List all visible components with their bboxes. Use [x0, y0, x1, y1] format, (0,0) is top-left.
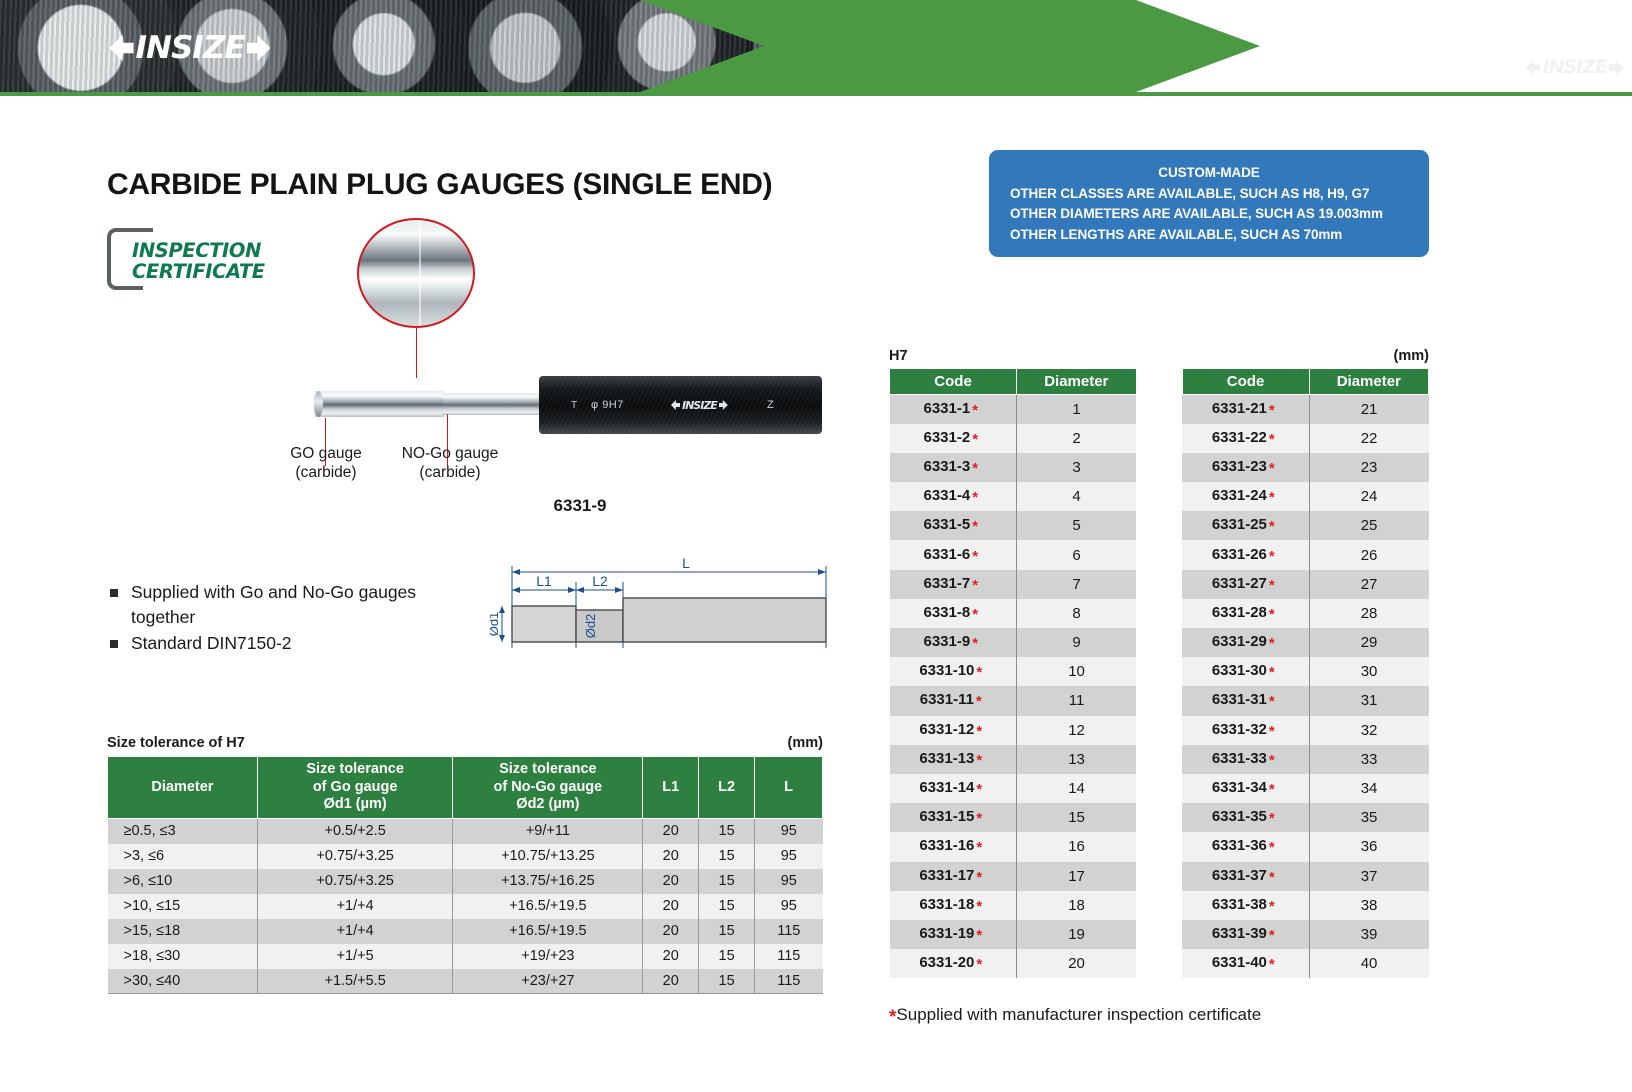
- diameter-cell: 3: [1017, 453, 1136, 482]
- nogo-gauge-callout: NO-Go gauge (carbide): [385, 444, 515, 483]
- code-value: 6331-25: [1212, 516, 1267, 533]
- table-row: >3, ≤6+0.75/+3.25+10.75/+13.25201595: [108, 844, 823, 869]
- th-nogo-line2: of No-Go gauge: [455, 779, 640, 797]
- engraving-class: Z: [767, 399, 774, 411]
- tolerance-cell-c5: 95: [755, 869, 823, 894]
- tolerance-cell-c0: >10, ≤15: [108, 894, 258, 919]
- engraving-diameter: φ 9H7: [591, 399, 624, 411]
- code-value: 6331-20: [919, 954, 974, 971]
- code-cell: 6331-31*: [1182, 686, 1309, 715]
- diameter-cell: 19: [1017, 920, 1136, 949]
- code-star-icon: *: [1269, 723, 1275, 740]
- th-code-left: Code: [890, 369, 1017, 395]
- table-row: 6331-34*34: [1182, 774, 1429, 803]
- code-star-icon: *: [976, 898, 982, 915]
- tolerance-cell-c4: 15: [699, 944, 755, 969]
- code-cell: 6331-15*: [890, 803, 1017, 832]
- code-value: 6331-40: [1212, 954, 1267, 971]
- code-star-icon: *: [1269, 489, 1275, 506]
- tolerance-cell-c1: +0.75/+3.25: [257, 844, 453, 869]
- tolerance-cell-c0: >18, ≤30: [108, 944, 258, 969]
- insize-logo: INSIZE: [90, 26, 290, 70]
- diameter-cell: 39: [1309, 920, 1428, 949]
- tolerance-cell-c4: 15: [699, 969, 755, 994]
- table-row: 6331-26*26: [1182, 540, 1429, 569]
- go-gauge-callout-line2: (carbide): [262, 463, 390, 482]
- diameter-cell: 2: [1017, 424, 1136, 453]
- tolerance-cell-c3: 20: [643, 969, 699, 994]
- engraving-logo: INSIZE: [671, 400, 728, 411]
- tolerance-cell-c2: +23/+27: [453, 969, 643, 994]
- diameter-cell: 40: [1309, 949, 1428, 978]
- code-star-icon: *: [976, 693, 982, 710]
- code-cell: 6331-28*: [1182, 599, 1309, 628]
- code-star-icon: *: [1269, 869, 1275, 886]
- diameter-cell: 31: [1309, 686, 1428, 715]
- tolerance-cell-c2: +10.75/+13.25: [453, 844, 643, 869]
- code-cell: 6331-6*: [890, 540, 1017, 569]
- tolerance-cell-c0: >6, ≤10: [108, 869, 258, 894]
- go-gauge-callout: GO gauge (carbide): [262, 444, 390, 483]
- diameter-cell: 1: [1017, 395, 1136, 424]
- tolerance-cell-c1: +0.5/+2.5: [257, 819, 453, 844]
- diameter-cell: 38: [1309, 891, 1428, 920]
- tolerance-cell-c3: 20: [643, 819, 699, 844]
- tolerance-cell-c2: +13.75/+16.25: [453, 869, 643, 894]
- table-row: 6331-2*2: [890, 424, 1137, 453]
- code-value: 6331-14: [919, 779, 974, 796]
- code-value: 6331-1: [924, 400, 971, 417]
- table-row: 6331-37*37: [1182, 862, 1429, 891]
- th-diameter-right: Diameter: [1309, 369, 1428, 395]
- code-star-icon: *: [972, 635, 978, 652]
- table-row: 6331-4*4: [890, 482, 1137, 511]
- code-star-icon: *: [972, 518, 978, 535]
- code-cell: 6331-7*: [890, 570, 1017, 599]
- table-row: 6331-6*6: [890, 540, 1137, 569]
- tolerance-cell-c3: 20: [643, 894, 699, 919]
- product-photo: T φ 9H7 INSIZE Z GO gauge (carbide) NO-G…: [300, 218, 860, 518]
- code-star-icon: *: [1269, 518, 1275, 535]
- code-star-icon: *: [976, 839, 982, 856]
- table-row: 6331-8*8: [890, 599, 1137, 628]
- table-row: 6331-3*3: [890, 453, 1137, 482]
- tolerance-table-caption-row: Size tolerance of H7 (mm): [107, 735, 823, 751]
- code-cell: 6331-33*: [1182, 745, 1309, 774]
- engraving-left-arrow-icon: [671, 400, 680, 410]
- table-row: 6331-7*7: [890, 570, 1137, 599]
- code-cell: 6331-23*: [1182, 453, 1309, 482]
- code-value: 6331-18: [919, 896, 974, 913]
- code-cell: 6331-29*: [1182, 628, 1309, 657]
- banner-divider: [0, 92, 1632, 96]
- code-cell: 6331-37*: [1182, 862, 1309, 891]
- table-row: 6331-24*24: [1182, 482, 1429, 511]
- diameter-cell: 22: [1309, 424, 1428, 453]
- code-tables-class-label: H7: [889, 348, 908, 364]
- th-go-line3: Ød1 (µm): [260, 796, 451, 814]
- dimension-drawing: L L1 L2 Ød1 Ød2: [490, 552, 840, 662]
- code-cell: 6331-2*: [890, 424, 1017, 453]
- gauge-engraving: T φ 9H7 INSIZE Z: [539, 376, 822, 434]
- code-value: 6331-9: [924, 633, 971, 650]
- code-value: 6331-19: [919, 925, 974, 942]
- tolerance-cell-c1: +1/+4: [257, 894, 453, 919]
- table-row: 6331-36*36: [1182, 832, 1429, 861]
- code-table-left-body: 6331-1*16331-2*26331-3*36331-4*46331-5*5…: [890, 395, 1137, 979]
- code-cell: 6331-35*: [1182, 803, 1309, 832]
- dim-label-d1: Ød1: [490, 612, 501, 637]
- table-row: 6331-16*16: [890, 832, 1137, 861]
- tolerance-cell-c4: 15: [699, 919, 755, 944]
- tolerance-cell-c5: 115: [755, 969, 823, 994]
- table-row: 6331-39*39: [1182, 920, 1429, 949]
- code-value: 6331-30: [1212, 662, 1267, 679]
- code-star-icon: *: [976, 723, 982, 740]
- logo-left-arrow-icon: [110, 35, 134, 61]
- code-value: 6331-7: [924, 575, 971, 592]
- engraving-t: T: [571, 400, 578, 411]
- code-cell: 6331-34*: [1182, 774, 1309, 803]
- diameter-cell: 8: [1017, 599, 1136, 628]
- product-model-number: 6331-9: [300, 496, 860, 516]
- tolerance-cell-c4: 15: [699, 869, 755, 894]
- code-tables-unit: (mm): [1394, 348, 1429, 364]
- diameter-cell: 21: [1309, 395, 1428, 424]
- custom-made-line-3: OTHER LENGTHS ARE AVAILABLE, SUCH AS 70m…: [1010, 225, 1419, 246]
- nogo-gauge-callout-line1: NO-Go gauge: [385, 444, 515, 463]
- table-row: 6331-5*5: [890, 511, 1137, 540]
- table-row: 6331-18*18: [890, 891, 1137, 920]
- table-row: 6331-10*10: [890, 657, 1137, 686]
- diameter-cell: 20: [1017, 949, 1136, 978]
- tolerance-cell-c0: >30, ≤40: [108, 969, 258, 994]
- code-cell: 6331-5*: [890, 511, 1017, 540]
- code-value: 6331-29: [1212, 633, 1267, 650]
- code-cell: 6331-8*: [890, 599, 1017, 628]
- watermark-left-arrow-icon: [1526, 60, 1541, 76]
- code-star-icon: *: [972, 489, 978, 506]
- table-row: 6331-20*20: [890, 949, 1137, 978]
- diameter-cell: 12: [1017, 716, 1136, 745]
- table-row: ≥0.5, ≤3+0.5/+2.5+9/+11201595: [108, 819, 823, 844]
- diameter-cell: 34: [1309, 774, 1428, 803]
- logo-wordmark: INSIZE: [136, 33, 245, 64]
- watermark-right-arrow-icon: [1609, 60, 1624, 76]
- table-row: 6331-1*1: [890, 395, 1137, 424]
- code-table-left-header-row: Code Diameter: [890, 369, 1137, 395]
- code-star-icon: *: [1269, 664, 1275, 681]
- table-row: 6331-11*11: [890, 686, 1137, 715]
- tolerance-cell-c1: +1.5/+5.5: [257, 969, 453, 994]
- custom-made-line-1: OTHER CLASSES ARE AVAILABLE, SUCH AS H8,…: [1010, 184, 1419, 205]
- code-cell: 6331-19*: [890, 920, 1017, 949]
- header-banner: INSIZE: [0, 0, 1632, 96]
- diameter-cell: 28: [1309, 599, 1428, 628]
- code-cell: 6331-25*: [1182, 511, 1309, 540]
- th-nogo-line3: Ød2 (µm): [455, 796, 640, 814]
- table-row: >6, ≤10+0.75/+3.25+13.75/+16.25201595: [108, 869, 823, 894]
- table-row: >18, ≤30+1/+5+19/+232015115: [108, 944, 823, 969]
- diameter-cell: 25: [1309, 511, 1428, 540]
- tolerance-table-section: Size tolerance of H7 (mm) Diameter Size …: [107, 735, 823, 994]
- diameter-cell: 16: [1017, 832, 1136, 861]
- tolerance-cell-c2: +16.5/+19.5: [453, 919, 643, 944]
- code-value: 6331-35: [1212, 808, 1267, 825]
- bullet-item-2: Standard DIN7150-2: [110, 631, 440, 656]
- tolerance-cell-c2: +9/+11: [453, 819, 643, 844]
- custom-made-callout: CUSTOM-MADE OTHER CLASSES ARE AVAILABLE,…: [989, 150, 1429, 257]
- tolerance-cell-c2: +19/+23: [453, 944, 643, 969]
- code-cell: 6331-12*: [890, 716, 1017, 745]
- footnote: *Supplied with manufacturer inspection c…: [889, 1005, 1261, 1029]
- code-star-icon: *: [976, 664, 982, 681]
- code-cell: 6331-39*: [1182, 920, 1309, 949]
- code-star-icon: *: [1269, 839, 1275, 856]
- th-l2: L2: [699, 757, 755, 819]
- tolerance-table-unit: (mm): [788, 735, 823, 751]
- code-star-icon: *: [972, 577, 978, 594]
- code-value: 6331-39: [1212, 925, 1267, 942]
- tolerance-table-header-row: Diameter Size tolerance of Go gauge Ød1 …: [108, 757, 823, 819]
- inspection-line-2: CERTIFICATE: [132, 262, 265, 283]
- tolerance-cell-c0: >15, ≤18: [108, 919, 258, 944]
- code-tables-section: H7 (mm) Code Diameter 6331-1*16331-2*263…: [889, 348, 1429, 978]
- code-star-icon: *: [1269, 402, 1275, 419]
- code-value: 6331-27: [1212, 575, 1267, 592]
- code-star-icon: *: [972, 460, 978, 477]
- table-row: 6331-27*27: [1182, 570, 1429, 599]
- diameter-cell: 29: [1309, 628, 1428, 657]
- code-cell: 6331-3*: [890, 453, 1017, 482]
- code-cell: 6331-11*: [890, 686, 1017, 715]
- bullet-item-1: Supplied with Go and No-Go gauges togeth…: [110, 580, 440, 630]
- table-row: 6331-19*19: [890, 920, 1137, 949]
- code-star-icon: *: [976, 927, 982, 944]
- code-value: 6331-26: [1212, 546, 1267, 563]
- code-value: 6331-33: [1212, 750, 1267, 767]
- diameter-cell: 26: [1309, 540, 1428, 569]
- code-star-icon: *: [1269, 927, 1275, 944]
- code-star-icon: *: [1269, 431, 1275, 448]
- code-cell: 6331-32*: [1182, 716, 1309, 745]
- code-cell: 6331-24*: [1182, 482, 1309, 511]
- diameter-cell: 30: [1309, 657, 1428, 686]
- code-value: 6331-21: [1212, 400, 1267, 417]
- dim-label-L2: L2: [592, 573, 608, 589]
- diameter-cell: 17: [1017, 862, 1136, 891]
- code-value: 6331-36: [1212, 837, 1267, 854]
- table-row: 6331-23*23: [1182, 453, 1429, 482]
- diameter-cell: 32: [1309, 716, 1428, 745]
- table-row: 6331-40*40: [1182, 949, 1429, 978]
- code-value: 6331-13: [919, 750, 974, 767]
- go-gauge-callout-line1: GO gauge: [262, 444, 390, 463]
- diameter-cell: 35: [1309, 803, 1428, 832]
- tolerance-cell-c4: 15: [699, 819, 755, 844]
- tolerance-cell-c3: 20: [643, 919, 699, 944]
- code-cell: 6331-30*: [1182, 657, 1309, 686]
- code-cell: 6331-20*: [890, 949, 1017, 978]
- code-value: 6331-38: [1212, 896, 1267, 913]
- diameter-cell: 18: [1017, 891, 1136, 920]
- diameter-cell: 14: [1017, 774, 1136, 803]
- code-star-icon: *: [972, 402, 978, 419]
- tolerance-cell-c3: 20: [643, 844, 699, 869]
- code-star-icon: *: [1269, 693, 1275, 710]
- tolerance-cell-c0: >3, ≤6: [108, 844, 258, 869]
- code-cell: 6331-13*: [890, 745, 1017, 774]
- code-star-icon: *: [972, 548, 978, 565]
- code-value: 6331-6: [924, 546, 971, 563]
- code-star-icon: *: [1269, 956, 1275, 973]
- th-nogo-line1: Size tolerance: [455, 761, 640, 779]
- gauge-handle-body: T φ 9H7 INSIZE Z: [539, 376, 822, 434]
- diameter-cell: 33: [1309, 745, 1428, 774]
- dim-label-d2: Ød2: [583, 614, 598, 639]
- code-star-icon: *: [1269, 752, 1275, 769]
- th-go-tolerance: Size tolerance of Go gauge Ød1 (µm): [257, 757, 453, 819]
- code-cell: 6331-36*: [1182, 832, 1309, 861]
- tolerance-cell-c1: +0.75/+3.25: [257, 869, 453, 894]
- code-cell: 6331-21*: [1182, 395, 1309, 424]
- surface-detail-zoom-circle: [357, 218, 475, 328]
- code-star-icon: *: [1269, 635, 1275, 652]
- th-nogo-tolerance: Size tolerance of No-Go gauge Ød2 (µm): [453, 757, 643, 819]
- go-gauge-pin: [314, 391, 444, 417]
- custom-made-line-2: OTHER DIAMETERS ARE AVAILABLE, SUCH AS 1…: [1010, 204, 1419, 225]
- code-value: 6331-17: [919, 867, 974, 884]
- code-cell: 6331-1*: [890, 395, 1017, 424]
- table-row: 6331-22*22: [1182, 424, 1429, 453]
- code-star-icon: *: [1269, 898, 1275, 915]
- engraving-brand: INSIZE: [682, 400, 717, 411]
- code-value: 6331-11: [920, 691, 974, 708]
- code-star-icon: *: [1269, 548, 1275, 565]
- th-go-line2: of Go gauge: [260, 779, 451, 797]
- tolerance-cell-c5: 95: [755, 844, 823, 869]
- table-row: 6331-38*38: [1182, 891, 1429, 920]
- code-value: 6331-12: [919, 721, 974, 738]
- custom-made-title: CUSTOM-MADE: [999, 163, 1419, 184]
- table-row: 6331-29*29: [1182, 628, 1429, 657]
- tolerance-cell-c0: ≥0.5, ≤3: [108, 819, 258, 844]
- inspection-line-1: INSPECTION: [132, 241, 265, 262]
- diameter-cell: 27: [1309, 570, 1428, 599]
- watermark-wordmark: INSIZE: [1543, 58, 1607, 77]
- code-value: 6331-16: [919, 837, 974, 854]
- code-star-icon: *: [972, 431, 978, 448]
- tolerance-table-body: ≥0.5, ≤3+0.5/+2.5+9/+11201595>3, ≤6+0.75…: [108, 819, 823, 994]
- code-value: 6331-8: [924, 604, 971, 621]
- tolerance-cell-c3: 20: [643, 944, 699, 969]
- tolerance-cell-c5: 115: [755, 944, 823, 969]
- code-star-icon: *: [1269, 460, 1275, 477]
- table-row: 6331-17*17: [890, 862, 1137, 891]
- plug-gauge-illustration: T φ 9H7 INSIZE Z: [314, 373, 822, 437]
- table-row: 6331-21*21: [1182, 395, 1429, 424]
- th-go-line1: Size tolerance: [260, 761, 451, 779]
- diameter-cell: 36: [1309, 832, 1428, 861]
- code-star-icon: *: [976, 956, 982, 973]
- code-value: 6331-3: [924, 458, 971, 475]
- code-value: 6331-28: [1212, 604, 1267, 621]
- table-row: 6331-32*32: [1182, 716, 1429, 745]
- th-l: L: [755, 757, 823, 819]
- tolerance-cell-c3: 20: [643, 869, 699, 894]
- code-star-icon: *: [1269, 577, 1275, 594]
- nogo-gauge-callout-line2: (carbide): [385, 463, 515, 482]
- code-value: 6331-23: [1212, 458, 1267, 475]
- code-cell: 6331-18*: [890, 891, 1017, 920]
- footnote-text: Supplied with manufacturer inspection ce…: [896, 1005, 1261, 1024]
- table-row: 6331-31*31: [1182, 686, 1429, 715]
- tolerance-cell-c4: 15: [699, 894, 755, 919]
- tolerance-cell-c5: 95: [755, 819, 823, 844]
- th-diameter-left: Diameter: [1017, 369, 1136, 395]
- code-table-right-body: 6331-21*216331-22*226331-23*236331-24*24…: [1182, 395, 1429, 979]
- diameter-cell: 5: [1017, 511, 1136, 540]
- tolerance-cell-c2: +16.5/+19.5: [453, 894, 643, 919]
- table-row: 6331-25*25: [1182, 511, 1429, 540]
- code-value: 6331-15: [919, 808, 974, 825]
- tolerance-cell-c4: 15: [699, 844, 755, 869]
- code-value: 6331-2: [924, 429, 971, 446]
- code-table-left: Code Diameter 6331-1*16331-2*26331-3*363…: [889, 368, 1137, 978]
- table-row: >10, ≤15+1/+4+16.5/+19.5201595: [108, 894, 823, 919]
- code-value: 6331-24: [1212, 487, 1267, 504]
- page-title: CARBIDE PLAIN PLUG GAUGES (SINGLE END): [107, 168, 772, 202]
- table-row: >30, ≤40+1.5/+5.5+23/+272015115: [108, 969, 823, 994]
- insize-watermark: INSIZE: [1526, 58, 1624, 77]
- code-value: 6331-4: [924, 487, 971, 504]
- code-cell: 6331-22*: [1182, 424, 1309, 453]
- code-value: 6331-32: [1212, 721, 1267, 738]
- feature-bullets: Supplied with Go and No-Go gauges togeth…: [110, 580, 440, 657]
- code-value: 6331-31: [1212, 691, 1267, 708]
- code-value: 6331-37: [1212, 867, 1267, 884]
- code-value: 6331-22: [1212, 429, 1267, 446]
- code-cell: 6331-26*: [1182, 540, 1309, 569]
- table-row: 6331-9*9: [890, 628, 1137, 657]
- code-star-icon: *: [976, 810, 982, 827]
- tolerance-cell-c5: 115: [755, 919, 823, 944]
- th-code-right: Code: [1182, 369, 1309, 395]
- diameter-cell: 6: [1017, 540, 1136, 569]
- tolerance-table-caption: Size tolerance of H7: [107, 735, 245, 751]
- code-cell: 6331-17*: [890, 862, 1017, 891]
- code-cell: 6331-14*: [890, 774, 1017, 803]
- code-cell: 6331-40*: [1182, 949, 1309, 978]
- logo-right-arrow-icon: [247, 35, 271, 61]
- diameter-cell: 4: [1017, 482, 1136, 511]
- code-star-icon: *: [976, 781, 982, 798]
- th-l1: L1: [643, 757, 699, 819]
- table-row: 6331-12*12: [890, 716, 1137, 745]
- code-cell: 6331-38*: [1182, 891, 1309, 920]
- tolerance-cell-c5: 95: [755, 894, 823, 919]
- inspection-certificate-badge: INSPECTION CERTIFICATE: [107, 228, 307, 298]
- code-star-icon: *: [976, 869, 982, 886]
- th-diameter: Diameter: [108, 757, 258, 819]
- diameter-cell: 37: [1309, 862, 1428, 891]
- inspection-certificate-label: INSPECTION CERTIFICATE: [132, 241, 265, 282]
- diameter-cell: 7: [1017, 570, 1136, 599]
- dim-label-L: L: [682, 555, 690, 571]
- table-row: 6331-13*13: [890, 745, 1137, 774]
- table-row: 6331-33*33: [1182, 745, 1429, 774]
- code-value: 6331-10: [919, 662, 974, 679]
